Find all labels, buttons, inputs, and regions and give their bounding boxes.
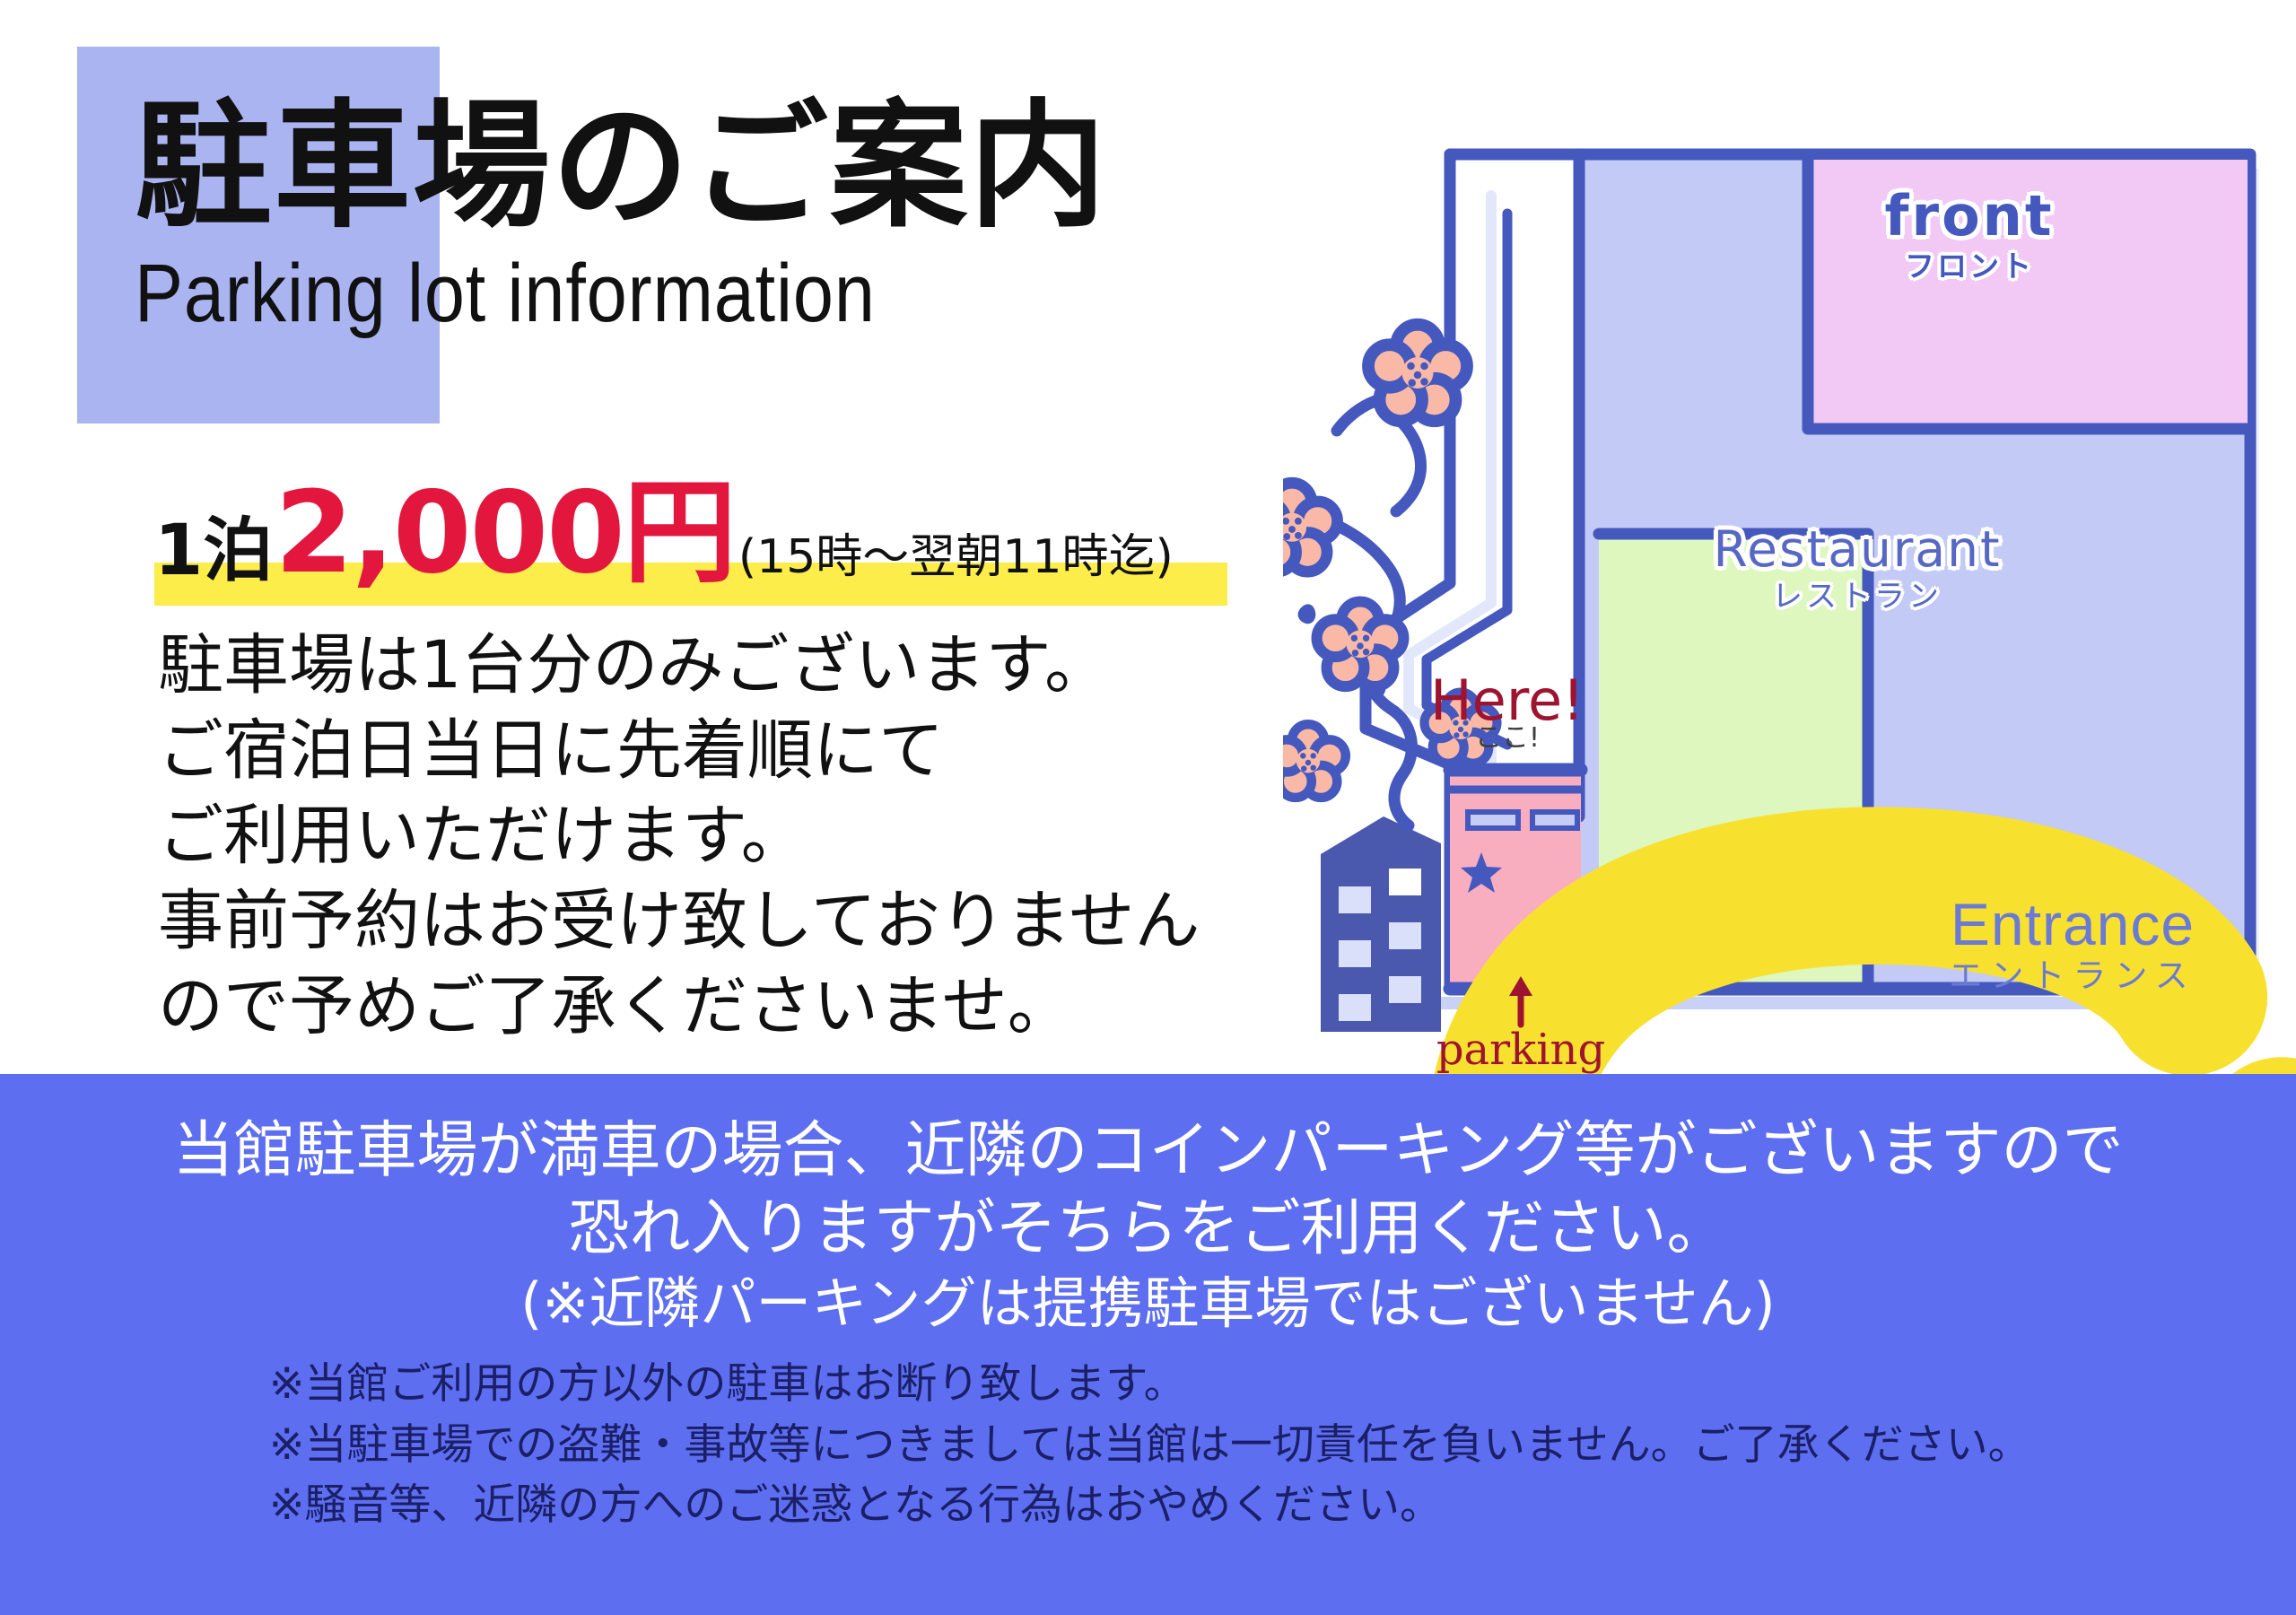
body-line: ので予めご了承くださいませ。 — [158, 965, 1324, 1050]
body-line: ご宿泊日当日に先着順にて — [158, 709, 1324, 794]
footer-main-line: 恐れ入りますがそちらをご利用ください。 — [0, 1190, 2296, 1268]
price-row: 1泊 2,000円 (15時〜翌朝11時迄) — [154, 489, 1174, 589]
price-amount: 2,000円 — [275, 476, 735, 589]
page-title-english: Parking lot information — [135, 249, 1184, 339]
footer-note: ※当館ご利用の方以外の駐車はお断り致します。 — [269, 1354, 2153, 1415]
price-time-note: (15時〜翌朝11時迄) — [738, 534, 1174, 589]
parking-map-illustration: front フロント Restaurant レストラン Entrance エント… — [1283, 135, 2279, 1068]
footer-note: ※当駐車場での盗難・事故等につきましては当館は一切責任を負いません。ご了承くださ… — [269, 1415, 2153, 1476]
body-line: 駐車場は1台分のみございます。 — [158, 624, 1324, 709]
price-per-night-label: 1泊 — [154, 516, 273, 589]
footer-main-message: 当館駐車場が満車の場合、近隣のコインパーキング等がございますので 恐れ入りますが… — [0, 1112, 2296, 1340]
footer-note: ※騒音等、近隣の方へのご迷惑となる行為はおやめください。 — [269, 1475, 2153, 1536]
footer-main-line: 当館駐車場が満車の場合、近隣のコインパーキング等がございますので — [0, 1112, 2296, 1190]
page-title-japanese: 駐車場のご案内 — [135, 94, 1328, 240]
footer-main-line: (※近隣パーキングは提携駐車場ではございません) — [0, 1268, 2296, 1340]
page-title: 駐車場のご案内 Parking lot information — [135, 94, 1328, 339]
body-line: 事前予約はお受け致しておりません — [158, 879, 1324, 965]
top-white-section: 駐車場のご案内 Parking lot information 1泊 2,000… — [0, 0, 2296, 1074]
body-paragraph: 駐車場は1台分のみございます。 ご宿泊日当日に先着順にて ご利用いただけます。 … — [158, 624, 1324, 1049]
body-line: ご利用いただけます。 — [158, 794, 1324, 879]
footer-notice-band: 当館駐車場が満車の場合、近隣のコインパーキング等がございますので 恐れ入りますが… — [0, 1074, 2296, 1615]
footer-notes-list: ※当館ご利用の方以外の駐車はお断り致します。 ※当駐車場での盗難・事故等につきま… — [269, 1354, 2153, 1536]
